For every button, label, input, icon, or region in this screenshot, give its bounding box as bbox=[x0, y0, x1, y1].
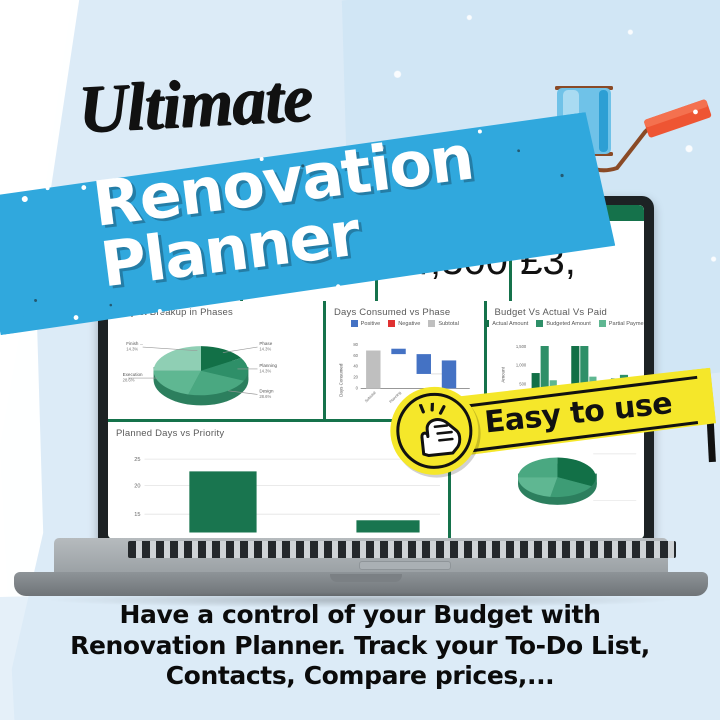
svg-text:25: 25 bbox=[134, 457, 140, 463]
svg-text:Execution: Execution bbox=[123, 372, 143, 377]
chart-title: Days Consumed vs Phase bbox=[334, 307, 476, 318]
svg-text:40: 40 bbox=[353, 364, 358, 369]
svg-text:Subtotal: Subtotal bbox=[364, 391, 377, 404]
laptop-base bbox=[14, 538, 708, 596]
legend-label: Partial Payment bbox=[609, 321, 644, 327]
chart-card-project-breakup[interactable]: Project Breakup in Phases bbox=[108, 301, 323, 419]
svg-text:20: 20 bbox=[134, 483, 140, 489]
svg-text:0: 0 bbox=[356, 385, 359, 390]
svg-text:Amount: Amount bbox=[500, 366, 505, 382]
legend-swatch-icon bbox=[487, 320, 490, 327]
svg-text:Finish ...: Finish ... bbox=[126, 341, 143, 346]
svg-text:14.3%: 14.3% bbox=[259, 369, 271, 374]
svg-text:Phase: Phase bbox=[259, 341, 272, 346]
svg-text:14.3%: 14.3% bbox=[259, 347, 271, 352]
planned-days-chart-svg: 25 20 15 bbox=[116, 448, 442, 536]
legend-swatch-icon bbox=[351, 320, 358, 327]
poster-caption: Have a control of your Budget with Renov… bbox=[0, 600, 720, 692]
legend-item: Negative bbox=[388, 320, 420, 327]
laptop-front-notch bbox=[330, 574, 402, 582]
chart-plot-area: 25 20 15 bbox=[116, 448, 442, 536]
legend-item: Actual Amount bbox=[487, 320, 529, 327]
caption-line-1: Have a control of your Budget with bbox=[0, 600, 720, 631]
pie-chart-svg: Finish ... 14.3% Execution 28.6% Phase 1… bbox=[116, 327, 317, 415]
chart-title: Budget Vs Actual Vs Paid bbox=[495, 307, 637, 318]
laptop-deck bbox=[54, 538, 668, 574]
svg-text:28.6%: 28.6% bbox=[123, 378, 135, 383]
svg-text:Days Consumed: Days Consumed bbox=[339, 363, 344, 397]
legend-label: Negative bbox=[398, 321, 420, 327]
legend-swatch-icon bbox=[388, 320, 395, 327]
caption-line-3: Contacts, Compare prices,... bbox=[0, 661, 720, 692]
legend-label: Positive bbox=[361, 321, 381, 327]
laptop-trackpad bbox=[359, 561, 451, 570]
legend-item: Budgeted Amount bbox=[536, 320, 590, 327]
legend-swatch-icon bbox=[428, 320, 435, 327]
legend-item: Partial Payment bbox=[599, 320, 644, 327]
chart-legend: Actual Amount Budgeted Amount Partial Pa… bbox=[495, 320, 637, 327]
legend-swatch-icon bbox=[599, 320, 606, 327]
legend-label: Actual Amount bbox=[492, 321, 528, 327]
svg-text:28.6%: 28.6% bbox=[259, 394, 271, 399]
legend-item: Subtotal bbox=[428, 320, 459, 327]
poster-canvas: Phases 1 Rooms 2 Total Budget £4,300 A bbox=[0, 0, 720, 720]
svg-text:80: 80 bbox=[353, 342, 358, 347]
svg-text:Design: Design bbox=[259, 389, 274, 394]
svg-text:60: 60 bbox=[353, 353, 358, 358]
svg-text:500: 500 bbox=[519, 382, 527, 387]
page-title-script: Ultimate bbox=[76, 58, 314, 149]
legend-label: Budgeted Amount bbox=[546, 321, 590, 327]
svg-text:1,000: 1,000 bbox=[515, 363, 526, 368]
legend-swatch-icon bbox=[536, 320, 543, 327]
svg-text:20: 20 bbox=[353, 374, 358, 379]
pointing-hand-click-icon bbox=[405, 400, 469, 464]
legend-item: Positive bbox=[351, 320, 381, 327]
chart-plot-area: Finish ... 14.3% Execution 28.6% Phase 1… bbox=[116, 327, 317, 415]
chart-legend: Positive Negative Subtotal bbox=[334, 320, 476, 327]
legend-label: Subtotal bbox=[438, 321, 459, 327]
svg-text:15: 15 bbox=[134, 512, 140, 518]
svg-text:1,500: 1,500 bbox=[515, 344, 526, 349]
laptop-keyboard bbox=[128, 541, 676, 558]
caption-line-2: Renovation Planner. Track your To-Do Lis… bbox=[0, 631, 720, 662]
svg-text:Planning: Planning bbox=[259, 363, 277, 368]
svg-text:14.3%: 14.3% bbox=[126, 347, 138, 352]
